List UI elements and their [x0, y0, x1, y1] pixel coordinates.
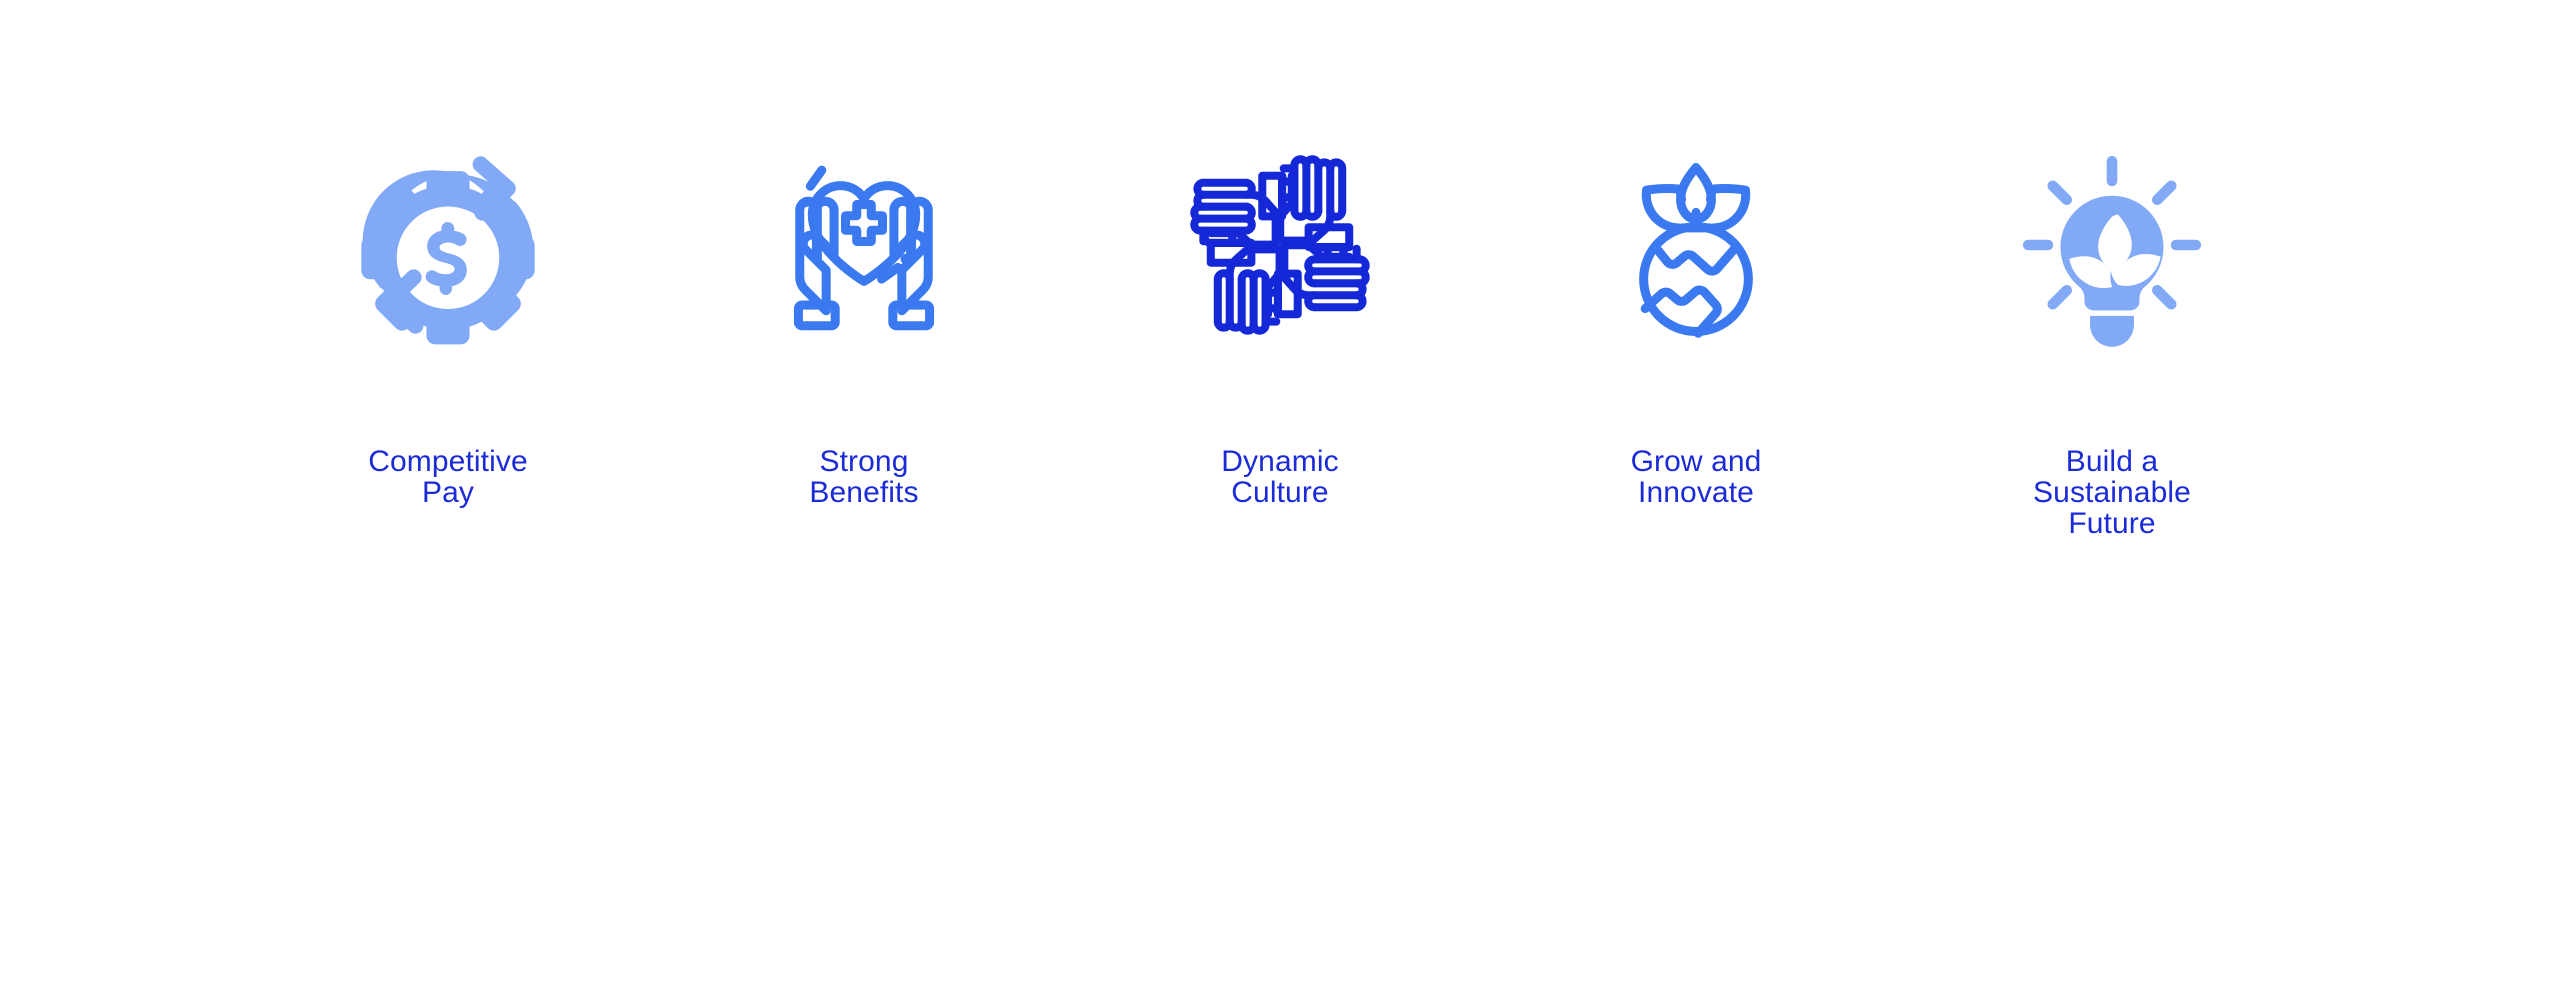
benefit-item-grow-and-innovate[interactable]: Grow and Innovate [1566, 130, 1826, 508]
four-hands-teamwork-icon [1165, 130, 1395, 360]
benefit-label: Dynamic Culture [1221, 446, 1338, 508]
heart-in-hands-icon [749, 130, 979, 360]
benefit-item-competitive-pay[interactable]: Competitive Pay [318, 130, 578, 508]
globe-lotus-growth-icon [1581, 130, 1811, 360]
benefit-label: Strong Benefits [809, 446, 918, 508]
benefit-label: Competitive Pay [368, 446, 528, 508]
money-gear-cycle-icon [333, 130, 563, 360]
benefits-strip: Competitive Pay [0, 0, 2560, 1000]
benefit-item-strong-benefits[interactable]: Strong Benefits [734, 130, 994, 508]
benefit-label: Build a Sustainable Future [2033, 446, 2191, 539]
benefit-item-dynamic-culture[interactable]: Dynamic Culture [1150, 130, 1410, 508]
benefit-label: Grow and Innovate [1631, 446, 1762, 508]
benefit-item-build-sustainable-future[interactable]: Build a Sustainable Future [1982, 130, 2242, 539]
lightbulb-leaf-idea-icon [1997, 130, 2227, 360]
